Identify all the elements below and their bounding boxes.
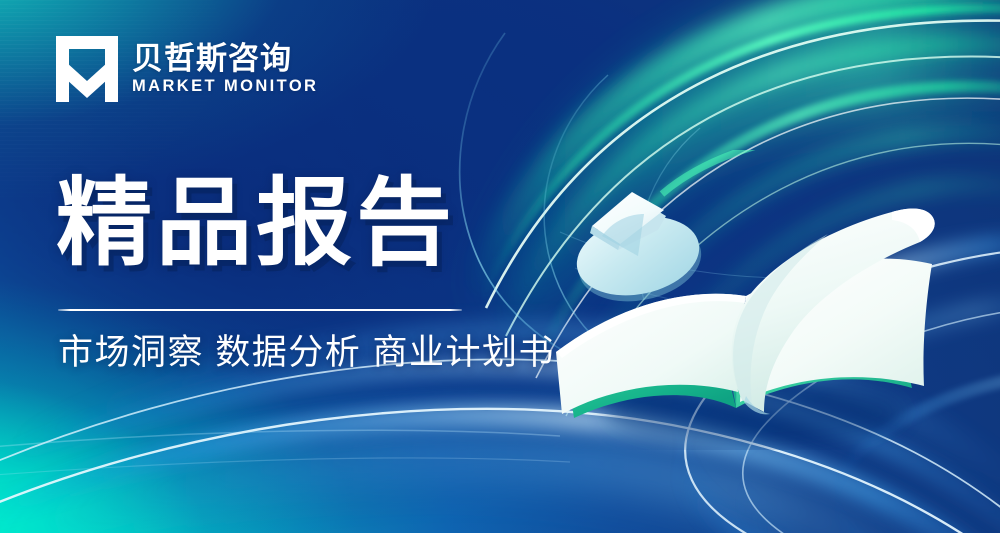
headline-title: 精品报告 bbox=[56, 174, 456, 274]
promo-banner: 贝哲斯咨询 MARKET MONITOR 精品报告 市场洞察 数据分析 商业计划… bbox=[0, 0, 1000, 533]
brand-wordmark: 贝哲斯咨询 MARKET MONITOR bbox=[132, 43, 318, 95]
pie-chart-disc bbox=[569, 192, 708, 312]
market-monitor-m-logo-icon bbox=[56, 36, 118, 102]
brand-name-cn: 贝哲斯咨询 bbox=[132, 43, 318, 74]
brand-logo[interactable]: 贝哲斯咨询 MARKET MONITOR bbox=[56, 36, 318, 102]
brand-name-en: MARKET MONITOR bbox=[132, 78, 318, 95]
subheadline: 市场洞察 数据分析 商业计划书 bbox=[58, 331, 555, 375]
open-book-illustration bbox=[540, 150, 960, 450]
divider-rule bbox=[58, 309, 462, 311]
